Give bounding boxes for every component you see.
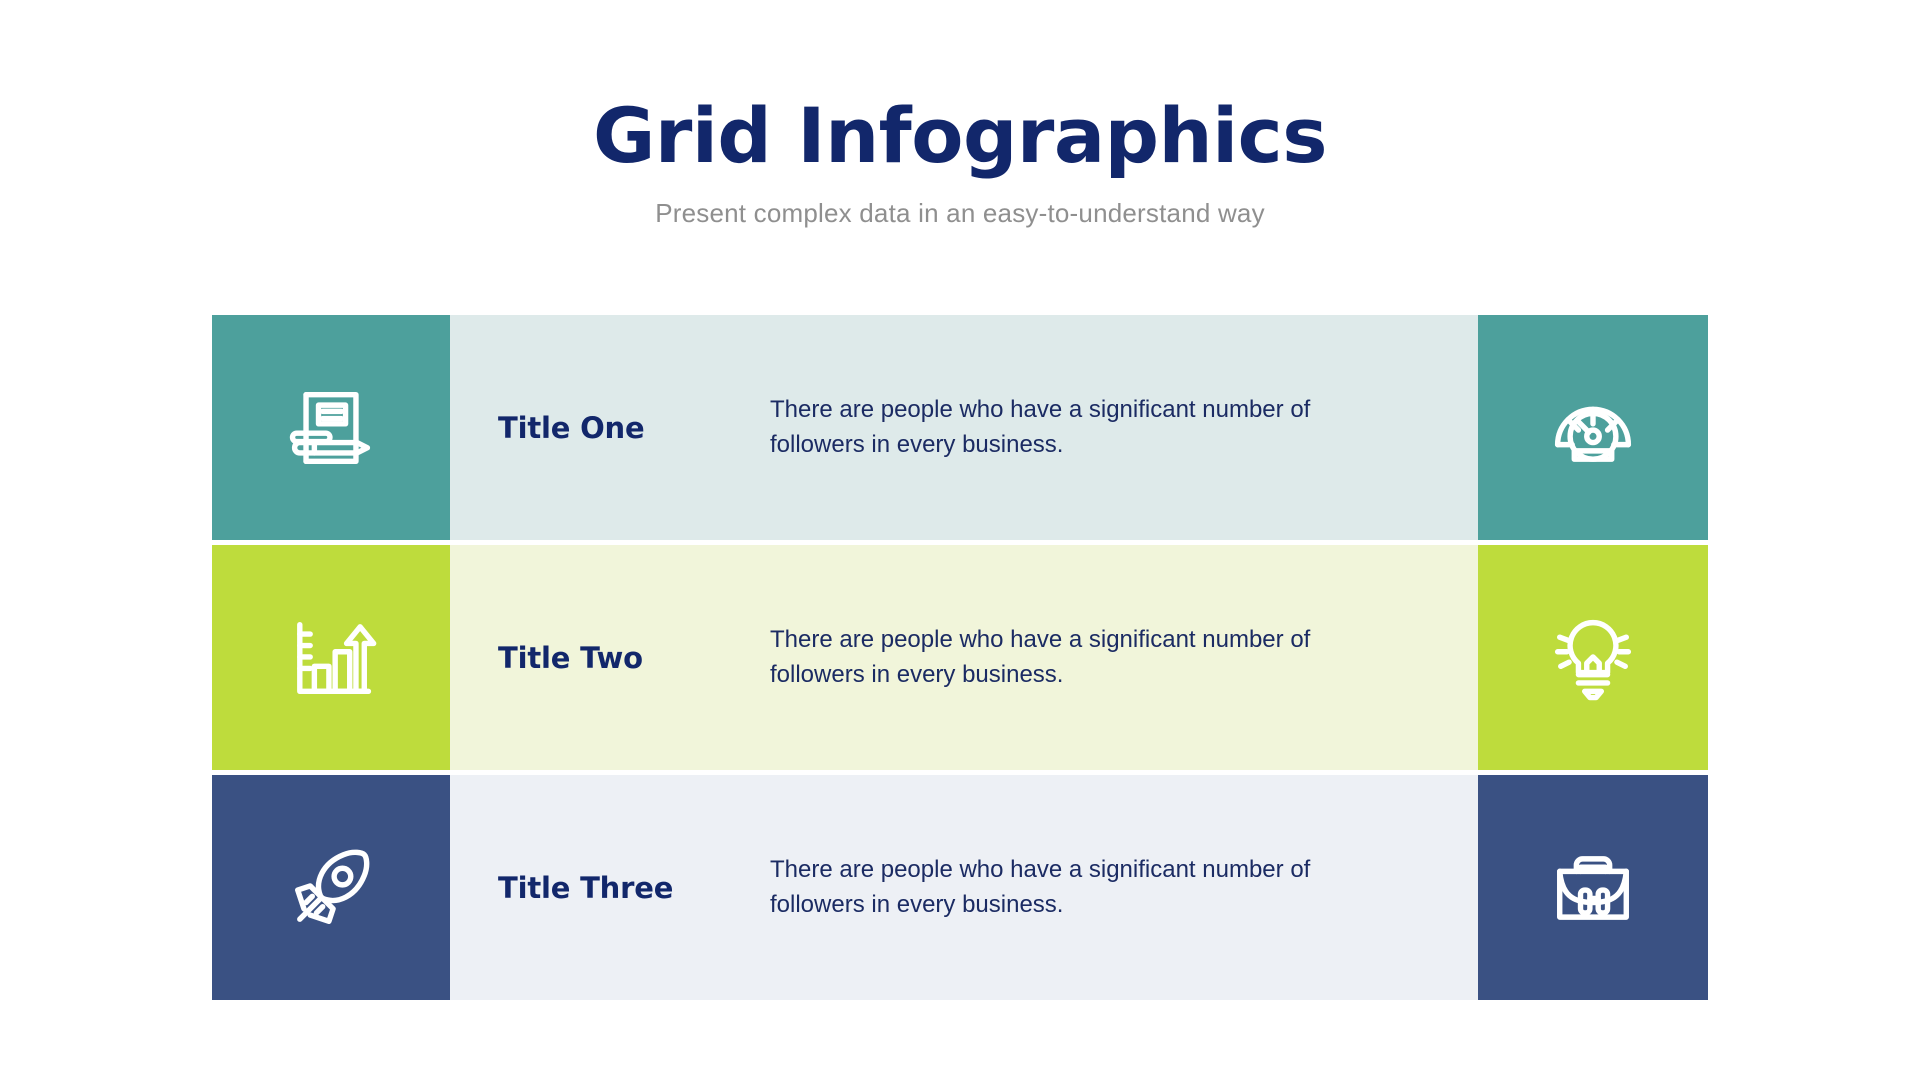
row-left-icon-block bbox=[212, 775, 450, 1000]
infographic-grid: Title One There are people who have a si… bbox=[212, 315, 1708, 1000]
lightbulb-icon bbox=[1541, 606, 1645, 710]
row-left-icon-block bbox=[212, 315, 450, 540]
row-title: Title Two bbox=[498, 641, 770, 675]
infographic-slide: Grid Infographics Present complex data i… bbox=[0, 0, 1920, 1080]
row-right-icon-block bbox=[1478, 315, 1708, 540]
row-left-icon-block bbox=[212, 545, 450, 770]
grid-row[interactable]: Title Three There are people who have a … bbox=[212, 775, 1708, 1000]
page-subtitle: Present complex data in an easy-to-under… bbox=[0, 198, 1920, 229]
row-title: Title One bbox=[498, 411, 770, 445]
row-content-panel: Title One There are people who have a si… bbox=[450, 315, 1478, 540]
row-content-panel: Title Three There are people who have a … bbox=[450, 775, 1478, 1000]
row-description: There are people who have a significant … bbox=[770, 853, 1340, 921]
row-description: There are people who have a significant … bbox=[770, 623, 1340, 691]
page-title: Grid Infographics bbox=[0, 96, 1920, 176]
briefcase-icon bbox=[1541, 836, 1645, 940]
speedometer-gauge-icon bbox=[1541, 376, 1645, 480]
rocket-icon bbox=[279, 836, 383, 940]
row-right-icon-block bbox=[1478, 545, 1708, 770]
row-description: There are people who have a significant … bbox=[770, 393, 1340, 461]
row-content-panel: Title Two There are people who have a si… bbox=[450, 545, 1478, 770]
notebook-pen-icon bbox=[279, 376, 383, 480]
grid-row[interactable]: Title Two There are people who have a si… bbox=[212, 545, 1708, 770]
row-right-icon-block bbox=[1478, 775, 1708, 1000]
slide-header: Grid Infographics Present complex data i… bbox=[0, 96, 1920, 229]
growth-bar-chart-icon bbox=[279, 606, 383, 710]
row-title: Title Three bbox=[498, 871, 770, 905]
grid-row[interactable]: Title One There are people who have a si… bbox=[212, 315, 1708, 540]
